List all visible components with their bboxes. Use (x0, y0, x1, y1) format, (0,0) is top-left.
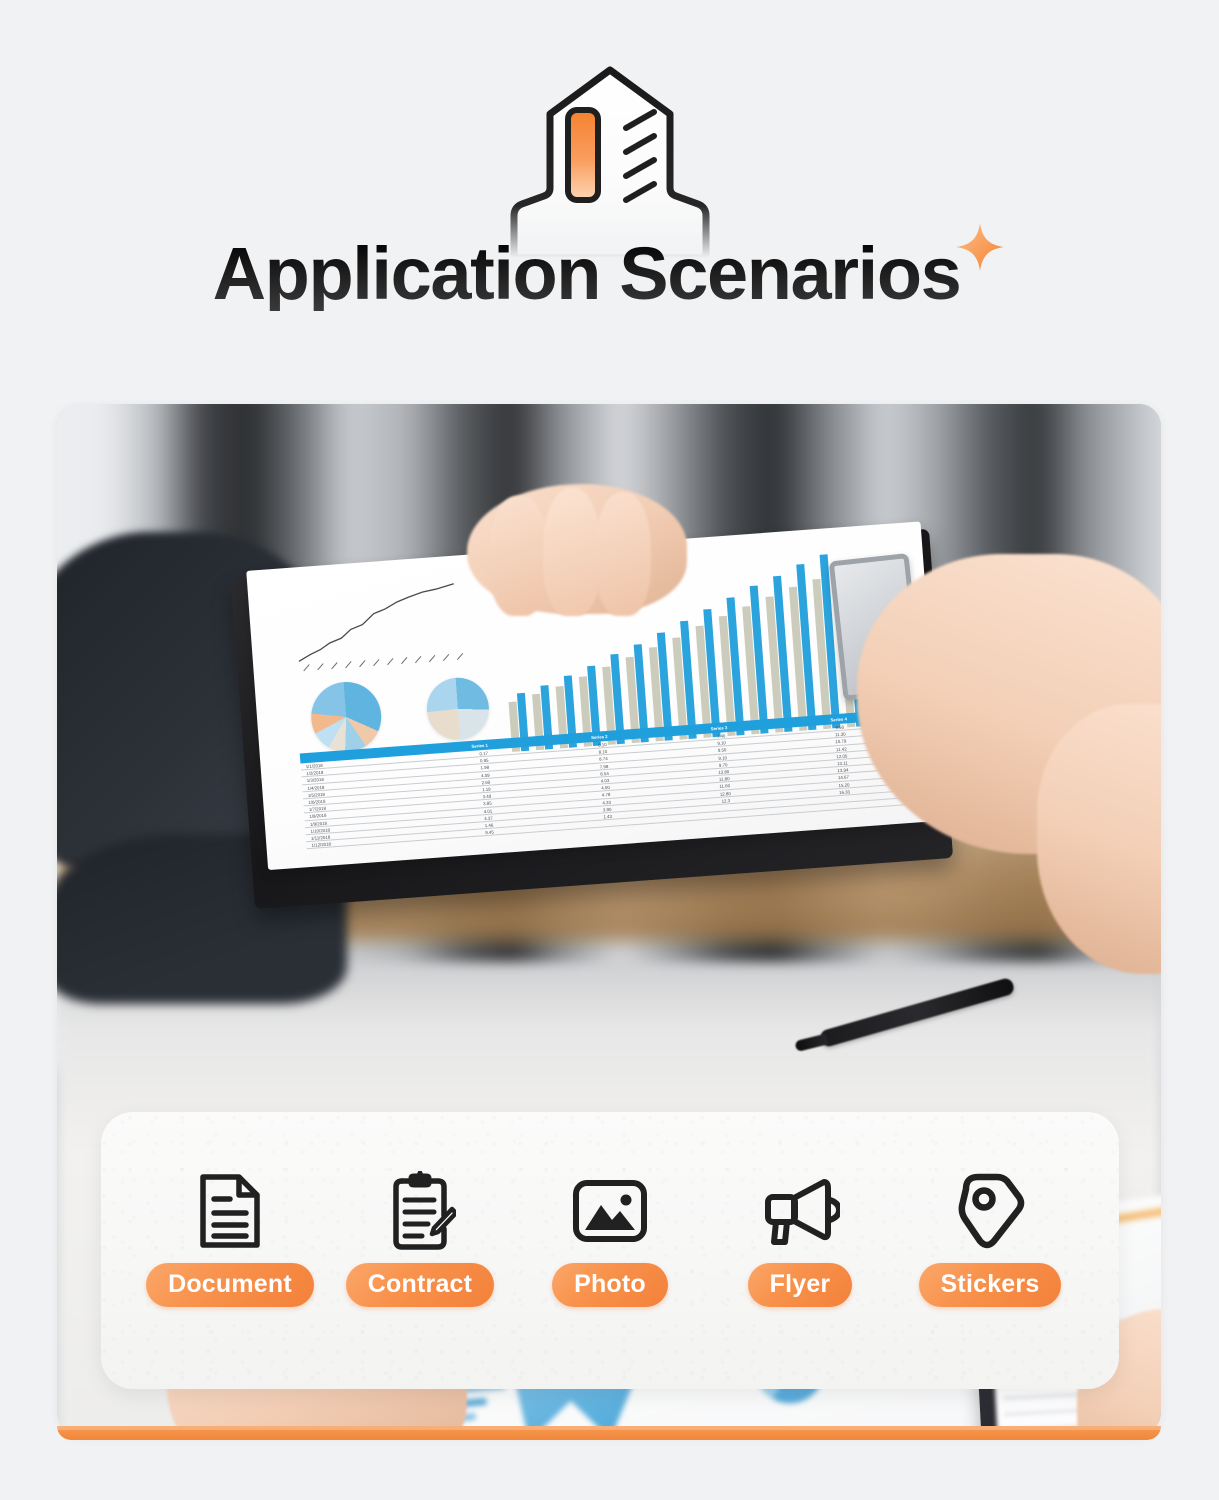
scenario-photo: Series 1 Series 2 Series 3 Series 4 1/1/… (57, 404, 1161, 1437)
building-tower-icon (502, 62, 718, 258)
feature-item-flyer[interactable]: Flyer (710, 1172, 890, 1307)
price-tag-icon (953, 1172, 1027, 1250)
page-root: Application Scenarios (0, 0, 1219, 1500)
report-pie-chart-2 (425, 676, 491, 742)
finger (543, 488, 601, 616)
image-picture-icon (571, 1172, 649, 1250)
feature-label-document[interactable]: Document (146, 1263, 314, 1307)
finger (489, 496, 549, 616)
feature-label-flyer[interactable]: Flyer (748, 1263, 853, 1307)
feature-item-stickers[interactable]: Stickers (900, 1172, 1080, 1307)
line-chart (288, 576, 484, 678)
feature-list: Document (101, 1172, 1119, 1307)
feature-item-photo[interactable]: Photo (520, 1172, 700, 1307)
sparkle-star-icon (954, 221, 1006, 273)
document-page-icon (197, 1172, 263, 1250)
bottom-accent-bar (57, 1426, 1161, 1440)
megaphone-icon (760, 1172, 840, 1250)
feature-item-contract[interactable]: Contract (330, 1172, 510, 1307)
report-pie-chart-1 (309, 680, 384, 755)
feature-item-document[interactable]: Document (140, 1172, 320, 1307)
feature-label-contract[interactable]: Contract (346, 1263, 494, 1307)
feature-label-photo[interactable]: Photo (552, 1263, 668, 1307)
page-title-row: Application Scenarios (0, 237, 1219, 311)
page-title: Application Scenarios (213, 237, 961, 311)
clipboard-pen-icon (384, 1172, 456, 1250)
feature-panel: Document (101, 1112, 1119, 1389)
feature-label-stickers[interactable]: Stickers (919, 1263, 1062, 1307)
finger (595, 492, 651, 616)
header-section: Application Scenarios (0, 0, 1219, 390)
